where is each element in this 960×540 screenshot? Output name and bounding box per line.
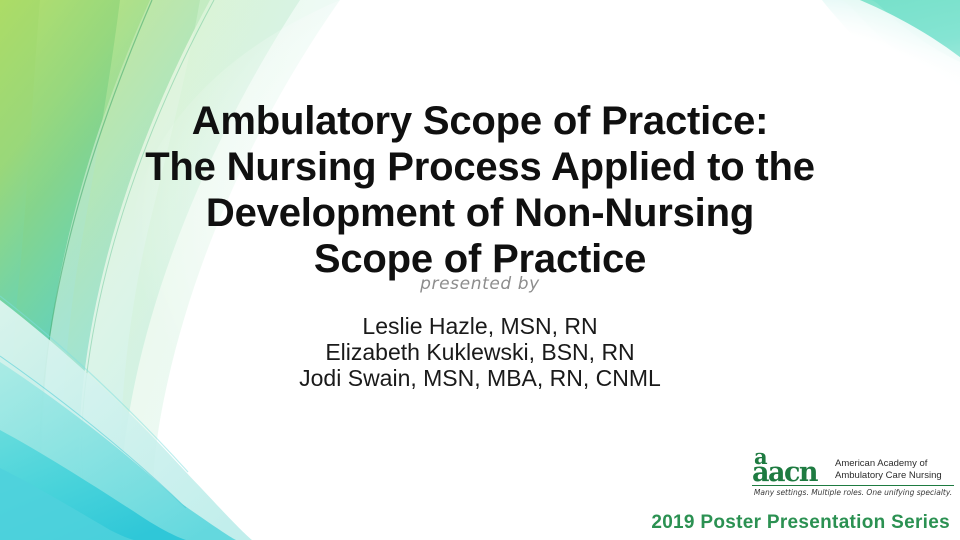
title-line-1: Ambulatory Scope of Practice: xyxy=(0,98,960,144)
presentation-slide: Ambulatory Scope of Practice: The Nursin… xyxy=(0,0,960,540)
slide-title: Ambulatory Scope of Practice: The Nursin… xyxy=(0,98,960,282)
logo-tagline: Many settings. Multiple roles. One unify… xyxy=(752,488,954,498)
title-line-3: Development of Non-Nursing xyxy=(0,190,960,236)
author-line-2: Elizabeth Kuklewski, BSN, RN xyxy=(0,339,960,365)
logo-name-line-1: American Academy of xyxy=(835,458,942,470)
logo-primary-row: a aacn American Academy of Ambulatory Ca… xyxy=(752,449,954,483)
logo-name-line-2: Ambulatory Care Nursing xyxy=(835,470,942,482)
presented-by-label: presented by xyxy=(0,274,960,294)
aacn-wordmark-text: aacn xyxy=(752,459,817,486)
logo-organization-name: American Academy of Ambulatory Care Nurs… xyxy=(835,458,942,483)
author-line-1: Leslie Hazle, MSN, RN xyxy=(0,313,960,339)
series-banner-label: 2019 Poster Presentation Series xyxy=(0,512,950,534)
aacn-wordmark-icon: a aacn xyxy=(752,449,830,483)
author-line-3: Jodi Swain, MSN, MBA, RN, CNML xyxy=(0,365,960,391)
author-list: Leslie Hazle, MSN, RN Elizabeth Kuklewsk… xyxy=(0,313,960,391)
aacn-logo: a aacn American Academy of Ambulatory Ca… xyxy=(752,449,954,498)
title-line-2: The Nursing Process Applied to the xyxy=(0,144,960,190)
